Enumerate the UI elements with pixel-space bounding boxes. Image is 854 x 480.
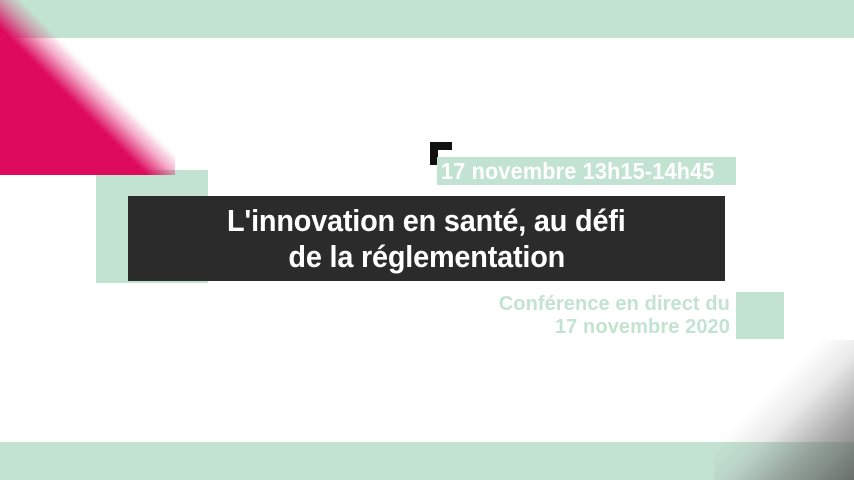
mint-accent-block-right: [736, 292, 784, 339]
title-line-2: de la réglementation: [288, 239, 565, 275]
conference-title-slide: 17 novembre 13h15-14h45 L'innovation en …: [0, 0, 854, 480]
subtitle-line-1: Conférence en direct du: [430, 293, 730, 316]
pink-corner-gradient: [0, 0, 175, 175]
title-line-1: L'innovation en santé, au défi: [227, 203, 626, 239]
date-time-banner: 17 novembre 13h15-14h45: [437, 157, 736, 185]
date-time-text: 17 novembre 13h15-14h45: [441, 160, 715, 183]
subtitle: Conférence en direct du 17 novembre 2020: [430, 293, 730, 339]
subtitle-line-2: 17 novembre 2020: [430, 316, 730, 339]
title-block: L'innovation en santé, au défi de la rég…: [128, 196, 725, 281]
bottom-mint-band: [0, 442, 854, 480]
